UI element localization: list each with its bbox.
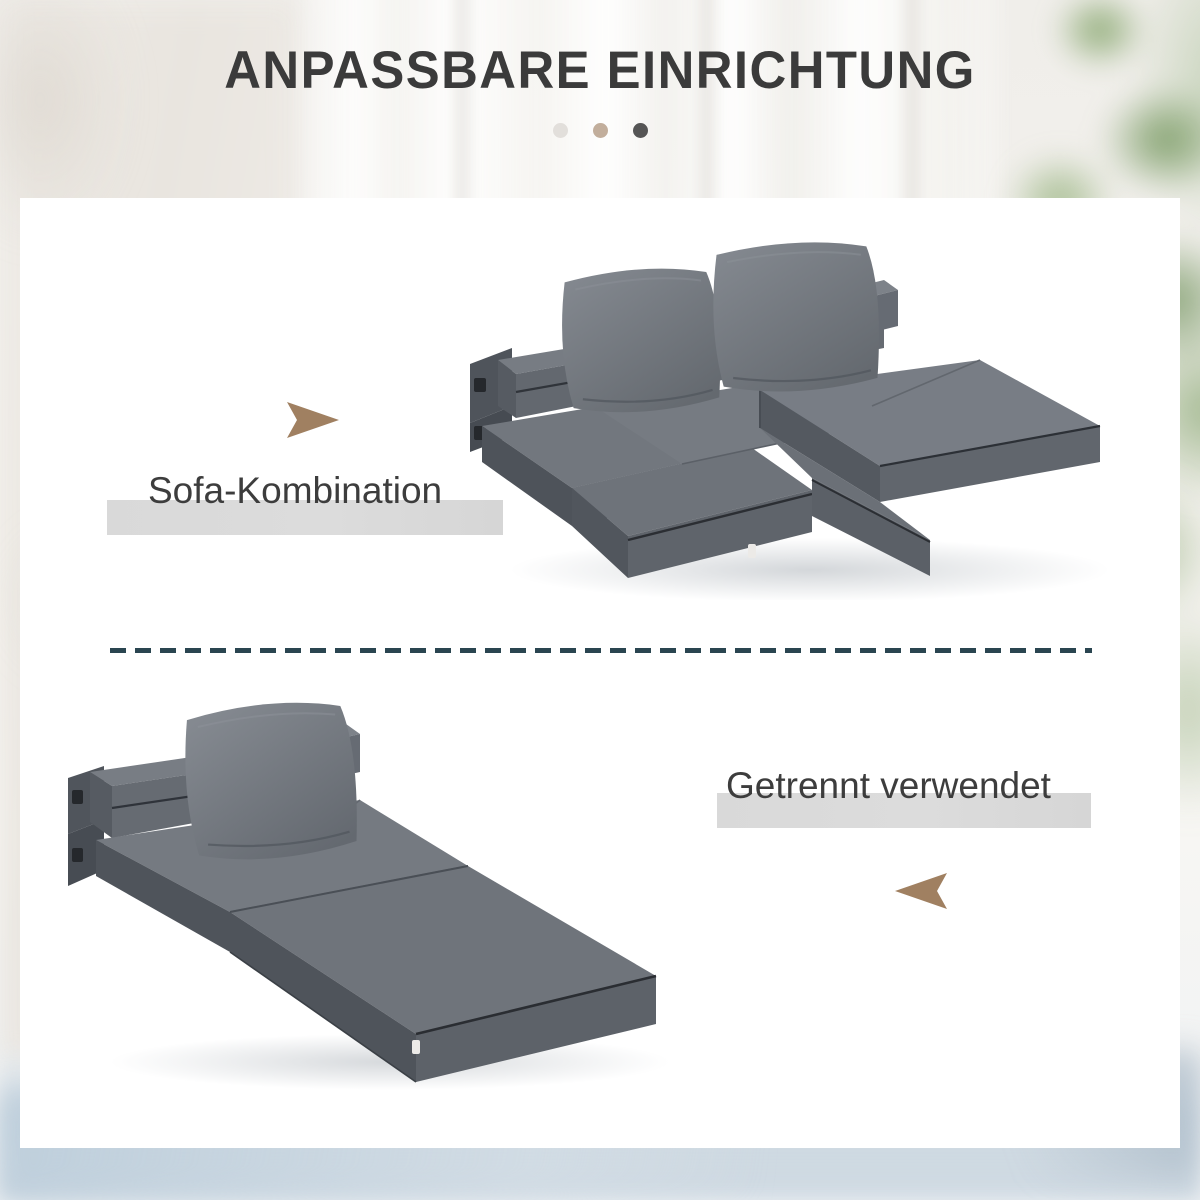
product-infographic: ANPASSBARE EINRICHTUNG [0, 0, 1200, 1200]
arrow-left-icon [889, 869, 951, 913]
header: ANPASSBARE EINRICHTUNG [0, 0, 1200, 138]
color-dot-beige [593, 123, 608, 138]
dot-indicators [0, 123, 1200, 138]
product-image-single-sofa-bed [60, 690, 720, 1090]
color-dot-light [553, 123, 568, 138]
arrow-right-icon [283, 398, 345, 442]
color-dot-dark [633, 123, 648, 138]
label-text: Getrennt verwendet [726, 765, 1051, 807]
label-text: Sofa-Kombination [148, 470, 442, 512]
page-title: ANPASSBARE EINRICHTUNG [24, 0, 1176, 101]
product-image-sofa-combination [460, 240, 1150, 600]
dashed-divider [110, 648, 1092, 653]
